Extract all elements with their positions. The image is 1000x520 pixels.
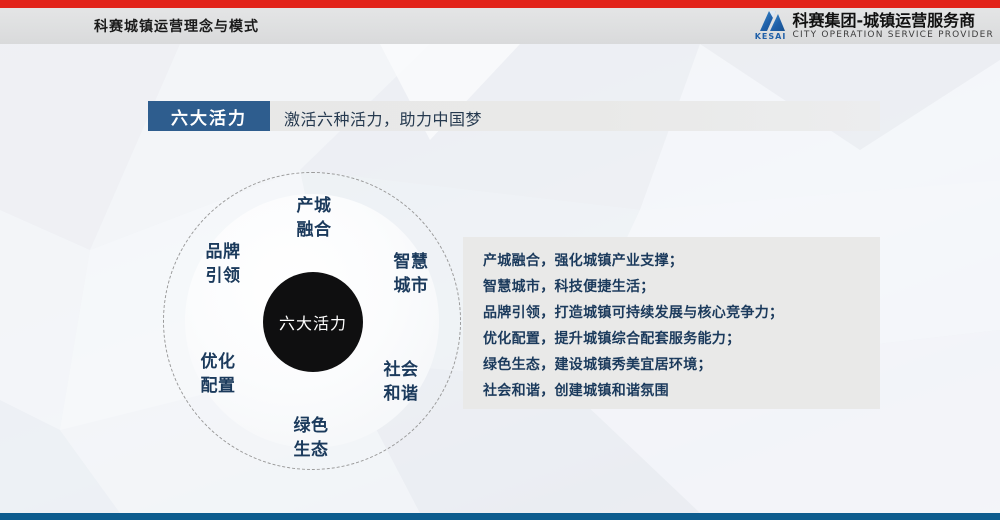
node-line-2: 和谐 (371, 382, 431, 406)
node-line-2: 引领 (193, 264, 253, 288)
logo-name-cn: 科赛集团-城镇运营服务商 (793, 12, 994, 30)
node-line-2: 配置 (188, 374, 248, 398)
brand-logo: KESAI 科赛集团-城镇运营服务商 CITY OPERATION SERVIC… (754, 8, 994, 44)
list-item: 绿色生态，建设城镇秀美宜居环境； (483, 352, 880, 378)
node-line-1: 智慧 (394, 252, 429, 272)
diagram-node-top: 产城 融合 (284, 194, 344, 242)
diagram-node-right-lower: 社会 和谐 (371, 358, 431, 406)
description-panel: 产城融合，强化城镇产业支撑； 智慧城市，科技便捷生活； 品牌引领，打造城镇可持续… (463, 237, 880, 409)
node-line-1: 优化 (201, 352, 236, 372)
kesai-mountain-logo-icon: KESAI (754, 11, 788, 41)
description-list: 产城融合，强化城镇产业支撑； 智慧城市，科技便捷生活； 品牌引领，打造城镇可持续… (463, 237, 880, 404)
footer-bar (0, 513, 1000, 520)
diagram-node-right-upper: 智慧 城市 (381, 250, 441, 298)
logo-glyph (754, 11, 788, 31)
list-item: 产城融合，强化城镇产业支撑； (483, 248, 880, 274)
node-line-1: 品牌 (206, 242, 241, 262)
slide-canvas: 科赛城镇运营理念与模式 KESAI 科赛集团-城镇运营服务商 CITY OPER (0, 0, 1000, 520)
logo-abbr: KESAI (755, 32, 787, 41)
node-line-1: 社会 (384, 360, 419, 380)
node-line-1: 产城 (297, 196, 332, 216)
logo-name-en: CITY OPERATION SERVICE PROVIDER (793, 30, 994, 41)
diagram-node-left-lower: 优化 配置 (188, 350, 248, 398)
six-vitality-diagram: 六大活力 产城 融合 智慧 城市 社会 和谐 绿色 生态 优化 配置 品牌 引领 (163, 172, 463, 472)
node-line-2: 融合 (284, 218, 344, 242)
list-item: 社会和谐，创建城镇和谐氛围 (483, 378, 880, 404)
node-line-2: 城市 (381, 274, 441, 298)
list-item: 智慧城市，科技便捷生活； (483, 274, 880, 300)
section-badge: 六大活力 (148, 101, 270, 131)
node-line-1: 绿色 (294, 416, 329, 436)
list-item: 优化配置，提升城镇综合配套服务能力； (483, 326, 880, 352)
diagram-core: 六大活力 (263, 272, 363, 372)
logo-wordmark: 科赛集团-城镇运营服务商 CITY OPERATION SERVICE PROV… (793, 12, 994, 41)
top-accent-bar (0, 0, 1000, 8)
diagram-core-label: 六大活力 (279, 310, 347, 334)
diagram-node-left-upper: 品牌 引领 (193, 240, 253, 288)
diagram-node-bottom: 绿色 生态 (281, 414, 341, 462)
section-subtitle: 激活六种活力，助力中国梦 (284, 106, 482, 130)
list-item: 品牌引领，打造城镇可持续发展与核心竞争力； (483, 300, 880, 326)
section-badge-label: 六大活力 (171, 104, 247, 129)
node-line-2: 生态 (281, 438, 341, 462)
page-title: 科赛城镇运营理念与模式 (94, 16, 259, 36)
